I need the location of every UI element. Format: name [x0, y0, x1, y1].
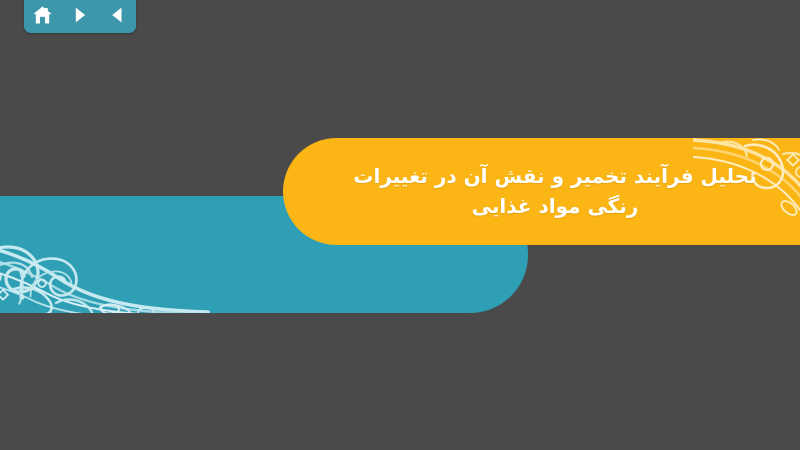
title-block: تحلیل فرآیند تخمیر و نقش آن در تغییرات ر…	[283, 138, 800, 245]
previous-slide-button[interactable]	[104, 3, 130, 27]
page-title: تحلیل فرآیند تخمیر و نقش آن در تغییرات ر…	[345, 162, 765, 221]
home-icon	[32, 5, 53, 26]
arabesque-ornament-left	[0, 196, 320, 313]
triangle-left-icon	[107, 5, 127, 25]
slide-navigation-toolbar	[24, 0, 136, 33]
next-slide-button[interactable]	[67, 3, 93, 27]
presentation-slide: تحلیل فرآیند تخمیر و نقش آن در تغییرات ر…	[0, 0, 800, 450]
triangle-right-icon	[70, 5, 90, 25]
title-banner: تحلیل فرآیند تخمیر و نقش آن در تغییرات ر…	[283, 138, 800, 245]
home-button[interactable]	[30, 3, 56, 27]
